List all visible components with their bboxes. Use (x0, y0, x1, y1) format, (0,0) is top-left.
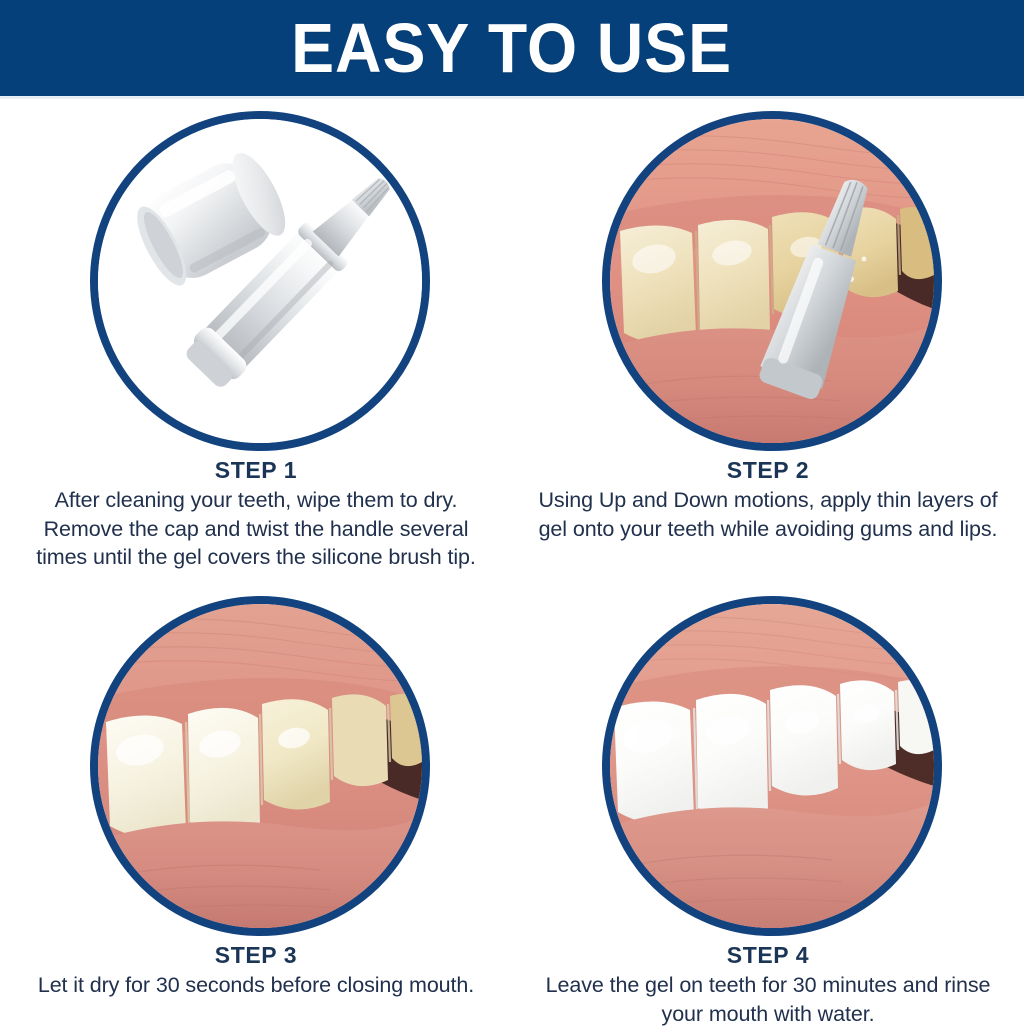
step-card-3: STEP 3 Let it dry for 30 seconds before … (0, 592, 512, 1000)
step-2-caption: Using Up and Down motions, apply thin la… (533, 486, 1003, 543)
step-1-caption: After cleaning your teeth, wipe them to … (21, 486, 491, 572)
teeth-fully-whitened-icon (610, 604, 934, 928)
teeth-partially-whitened-icon (98, 604, 422, 928)
whitening-pen-with-cap-removed-icon (98, 119, 422, 443)
page-title: EASY TO USE (292, 13, 733, 83)
step-4-circle (602, 596, 942, 936)
step-4-caption: Leave the gel on teeth for 30 minutes an… (533, 971, 1003, 1028)
step-card-2: STEP 2 Using Up and Down motions, apply … (512, 107, 1024, 543)
step-card-4: STEP 4 Leave the gel on teeth for 30 min… (512, 592, 1024, 1028)
step-card-1: STEP 1 After cleaning your teeth, wipe t… (0, 107, 512, 572)
step-1-circle (90, 111, 430, 451)
step-3-image-frame (86, 592, 426, 932)
header-banner: EASY TO USE (0, 0, 1024, 96)
step-1-title: STEP 1 (0, 457, 512, 483)
step-3-circle (90, 596, 430, 936)
step-3-caption: Let it dry for 30 seconds before closing… (21, 971, 491, 1000)
step-2-circle (602, 111, 942, 451)
steps-grid: STEP 1 After cleaning your teeth, wipe t… (0, 99, 1024, 1021)
step-4-image-frame (598, 592, 938, 932)
applying-gel-to-yellow-teeth-icon (610, 119, 934, 443)
step-2-title: STEP 2 (512, 457, 1024, 483)
step-4-title: STEP 4 (512, 942, 1024, 968)
step-2-image-frame (598, 107, 938, 447)
step-3-title: STEP 3 (0, 942, 512, 968)
step-1-image-frame (86, 107, 426, 447)
